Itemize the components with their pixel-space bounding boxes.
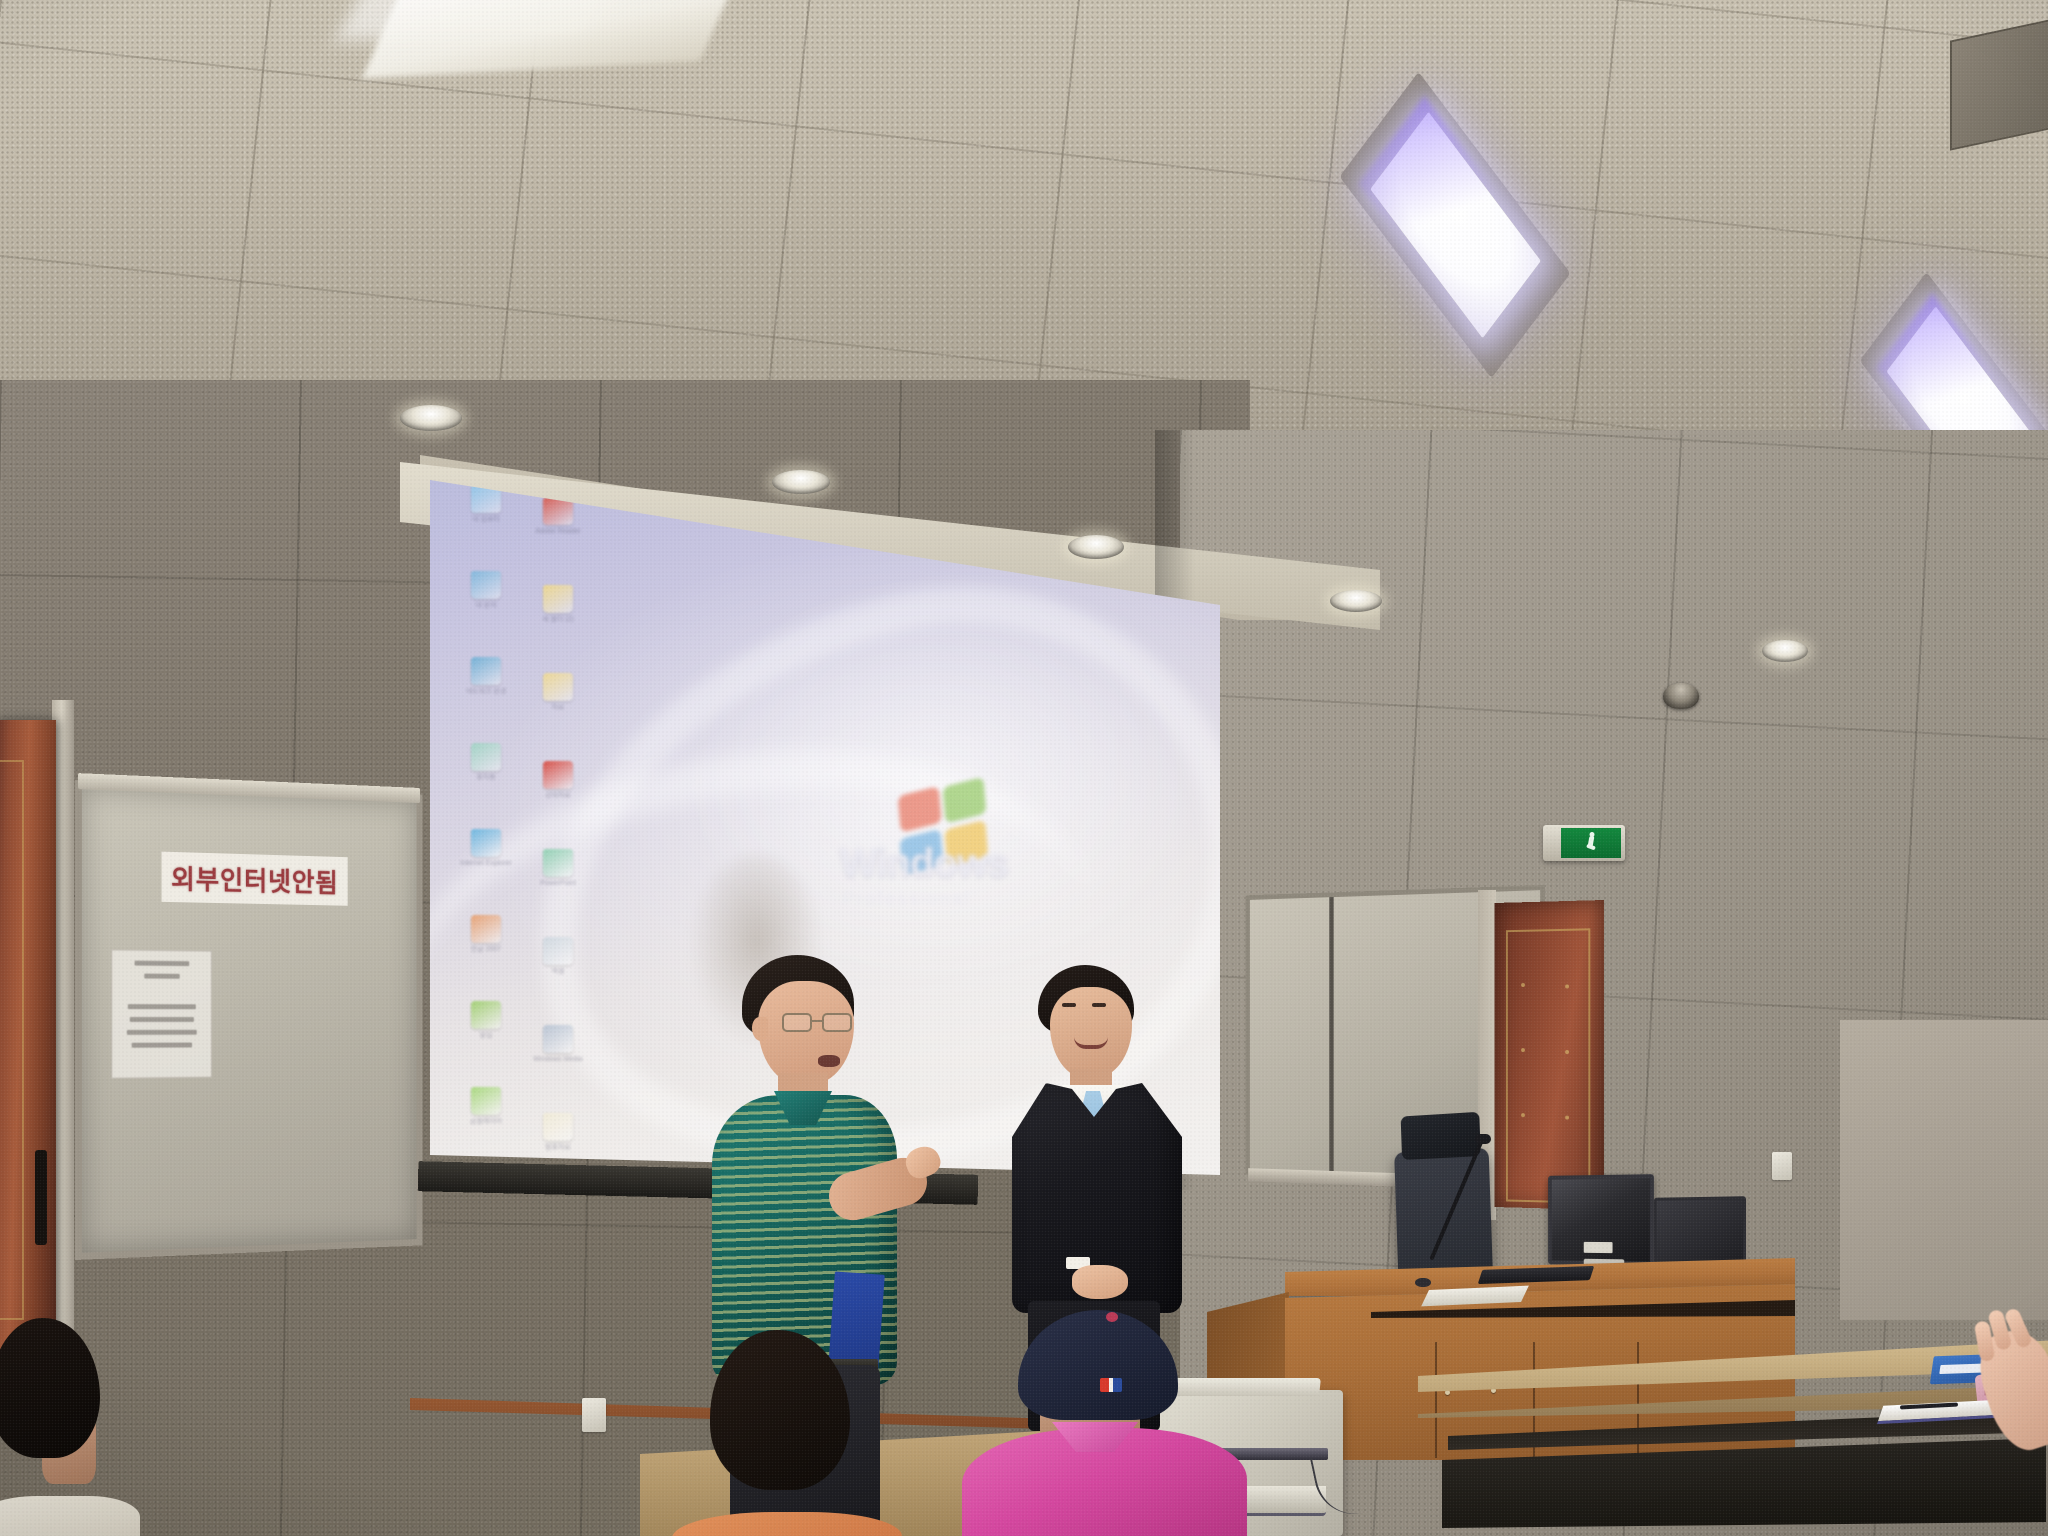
windows-logo: Windows Professional	[900, 785, 996, 869]
head	[0, 1318, 100, 1458]
ceiling-light-panel	[1330, 160, 1580, 290]
flag-quadrant-red	[898, 786, 942, 832]
desktop-icon-glyph	[543, 585, 573, 613]
desktop-icon-label: 네트워크 환경	[454, 688, 518, 696]
paper-notice	[111, 949, 212, 1078]
notice-line	[145, 974, 180, 979]
notice-line	[127, 1030, 197, 1035]
desktop-icon-label: Adobe Reader	[526, 528, 590, 536]
shirt	[0, 1496, 140, 1536]
desktop-icon-label: 알집	[454, 1032, 518, 1040]
door-stud	[1565, 1050, 1569, 1054]
chair-headrest	[1401, 1112, 1481, 1160]
desktop-icon[interactable]: 내 컴퓨터	[454, 485, 518, 557]
door-panel-trim	[0, 760, 24, 1320]
left-whiteboard: 외부인터넷안됨	[75, 780, 423, 1260]
audience-member-center	[700, 1330, 890, 1536]
recessed-downlight-icon	[400, 405, 462, 431]
runner-leg	[1586, 844, 1596, 851]
door-handle-icon[interactable]	[35, 1150, 47, 1245]
desktop-icon-glyph	[543, 761, 573, 789]
desktop-icon-glyph	[471, 915, 501, 943]
desktop-icon-label: 엑셀	[526, 968, 590, 976]
eyeglasses-icon	[782, 1013, 854, 1033]
whiteboard-divider	[1329, 897, 1333, 1173]
desktop-icon-glyph	[543, 937, 573, 965]
shirt	[672, 1512, 902, 1536]
left-door[interactable]	[0, 720, 56, 1410]
desktop-icon[interactable]: 알집	[454, 1001, 518, 1073]
desktop-icon-glyph	[471, 829, 501, 857]
clasped-hands	[1072, 1265, 1128, 1299]
desktop-icon-glyph	[543, 849, 573, 877]
notice-line	[131, 1043, 192, 1048]
desktop-icon-label: Internet Explorer	[454, 860, 518, 868]
desktop-icon-label: 강의자료	[526, 792, 590, 800]
desktop-icon[interactable]: PowerPoint	[526, 849, 590, 921]
eye-right	[1092, 1003, 1106, 1007]
windows-wordmark: Windows	[840, 841, 1008, 886]
mouth	[818, 1055, 840, 1067]
recessed-downlight-icon	[1762, 640, 1808, 662]
microphone-head-icon	[1475, 1134, 1491, 1144]
door-stud	[1521, 983, 1525, 987]
door-stud	[1565, 1116, 1569, 1120]
face	[758, 981, 854, 1085]
recessed-downlight-icon	[1330, 590, 1382, 612]
windows-edition: Professional	[842, 889, 971, 911]
desktop-icon-label: 자료	[526, 704, 590, 712]
desktop-icon-label: 발표자료	[526, 1144, 590, 1152]
lens-right	[822, 1013, 852, 1032]
exit-sign	[1543, 825, 1625, 861]
wall-outlet[interactable]	[1772, 1152, 1792, 1180]
head	[710, 1330, 850, 1490]
flag-quadrant-green	[943, 777, 987, 823]
desktop-icon[interactable]: 새 폴더 (2)	[526, 585, 590, 657]
desktop-icon-glyph	[471, 1001, 501, 1029]
glasses-bridge	[812, 1020, 824, 1022]
security-camera-icon	[1663, 683, 1699, 709]
desktop-icon-glyph	[543, 673, 573, 701]
lcd-monitor[interactable]	[1548, 1174, 1654, 1266]
no-external-internet-sign: 외부인터넷안됨	[162, 852, 348, 906]
desktop-icon-label: 새 폴더 (2)	[526, 616, 590, 624]
eye-left	[1062, 1003, 1076, 1007]
mlb-logo-icon	[1100, 1378, 1122, 1392]
wall-outlet[interactable]	[582, 1398, 606, 1432]
table-legs	[1442, 1438, 2046, 1528]
face	[1050, 987, 1132, 1079]
recessed-downlight-icon	[1068, 535, 1124, 559]
ceiling-vent	[1950, 19, 2048, 150]
baseball-cap	[1018, 1310, 1178, 1420]
desktop-icon-glyph	[543, 1025, 573, 1053]
desktop-icon-glyph	[471, 571, 501, 599]
audience-member-left	[0, 1318, 140, 1536]
notice-line	[135, 961, 189, 966]
recessed-downlight-icon	[772, 470, 830, 494]
ear	[752, 1017, 768, 1041]
monitor-badge	[1584, 1242, 1613, 1253]
desktop-icon[interactable]: 곰플레이어	[454, 1087, 518, 1159]
cap-button	[1106, 1312, 1118, 1322]
door-stud	[1565, 984, 1569, 988]
desktop-icon-glyph	[471, 743, 501, 771]
audience-member-with-cap	[1000, 1310, 1230, 1536]
desktop-icon-label: 곰플레이어	[454, 1118, 518, 1126]
desktop-icon[interactable]: 자료	[526, 673, 590, 745]
desktop-icon-label: 휴지통	[454, 774, 518, 782]
desktop-icon[interactable]: 강의자료	[526, 761, 590, 833]
desktop-icon-label: Windows Media	[526, 1056, 590, 1064]
mouse[interactable]	[1415, 1278, 1431, 1287]
door-stud	[1521, 1113, 1525, 1117]
notice-line	[130, 1017, 194, 1022]
desktop-icon[interactable]: Windows Media	[526, 1025, 590, 1097]
lens-left	[782, 1013, 812, 1032]
desktop-icon-label: PowerPoint	[526, 880, 590, 888]
desktop-icon-glyph	[543, 1113, 573, 1141]
far-right-wall	[1840, 1020, 2048, 1320]
exit-sign-face	[1561, 828, 1621, 858]
desktop-icon-label: 내 문서	[454, 602, 518, 610]
desktop-icon[interactable]: 내 문서	[454, 571, 518, 643]
desktop-icon-glyph	[471, 1087, 501, 1115]
desktop-icon[interactable]: 한글 2007	[454, 915, 518, 987]
desktop-icon[interactable]: Internet Explorer	[454, 829, 518, 901]
desktop-icon[interactable]: 엑셀	[526, 937, 590, 1009]
notice-line	[128, 1004, 196, 1009]
door-stud	[1521, 1048, 1525, 1052]
desktop-icon-label: 내 컴퓨터	[454, 516, 518, 524]
desktop-icon-glyph	[471, 657, 501, 685]
desktop-icon[interactable]: 네트워크 환경	[454, 657, 518, 729]
running-person-icon	[1585, 832, 1598, 854]
desktop-icon[interactable]: 휴지통	[454, 743, 518, 815]
desktop-icon-label: 한글 2007	[454, 946, 518, 954]
lecture-hall-photo: 외부인터넷안됨 내 컴퓨터내 문서네트워크 환경휴지통Internet Expl…	[0, 0, 2048, 1536]
desktop-icon[interactable]: Adobe Reader	[526, 497, 590, 569]
